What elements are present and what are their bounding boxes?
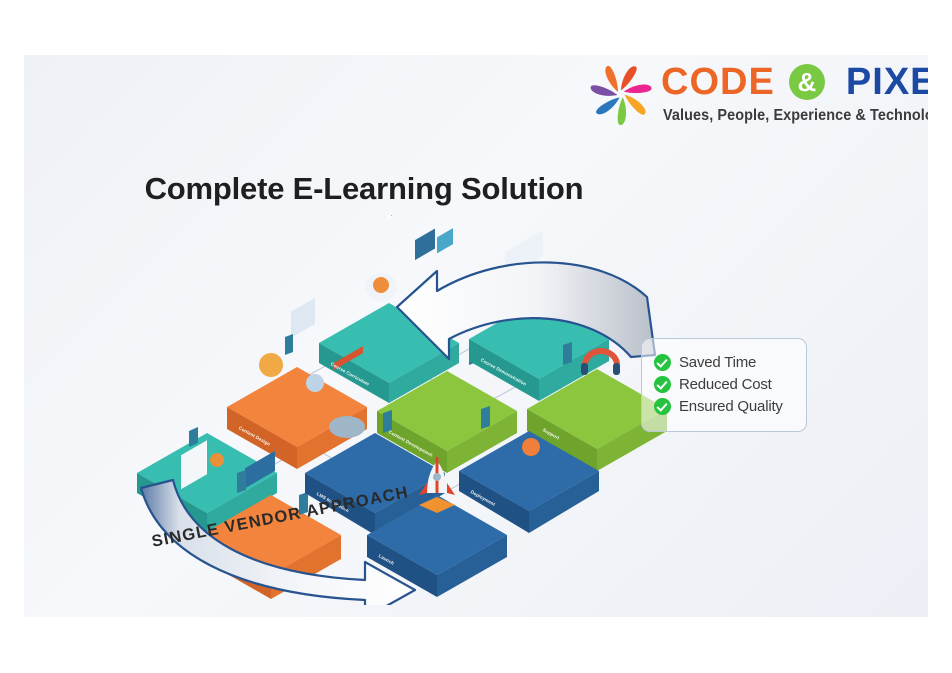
benefit-item-saved-time: Saved Time (654, 354, 794, 371)
benefit-item-ensured-quality: Ensured Quality (654, 398, 794, 415)
pinwheel-logo-icon (587, 63, 655, 125)
company-logo: CODE & PIXELS Values, People, Experience… (565, 57, 920, 139)
check-circle-icon (654, 398, 671, 415)
benefit-label: Saved Time (679, 354, 756, 371)
check-circle-icon (654, 354, 671, 371)
benefit-item-reduced-cost: Reduced Cost (654, 376, 794, 393)
logo-tagline: Values, People, Experience & Technology (663, 107, 928, 125)
page-title: Complete E-Learning Solution (24, 171, 704, 207)
benefits-panel: Saved Time Reduced Cost Ensured Quality (641, 338, 807, 432)
process-block-content-design[interactable] (227, 298, 367, 469)
check-circle-icon (654, 376, 671, 393)
logo-ampersand-badge: & (789, 64, 825, 100)
logo-word-pixels: PIXELS (846, 61, 928, 103)
presentation-slide: CODE & PIXELS Values, People, Experience… (24, 55, 928, 617)
benefit-label: Ensured Quality (679, 398, 783, 415)
logo-wordmark: CODE & PIXELS (661, 59, 928, 105)
benefit-label: Reduced Cost (679, 376, 772, 393)
logo-word-code: CODE (661, 61, 775, 103)
